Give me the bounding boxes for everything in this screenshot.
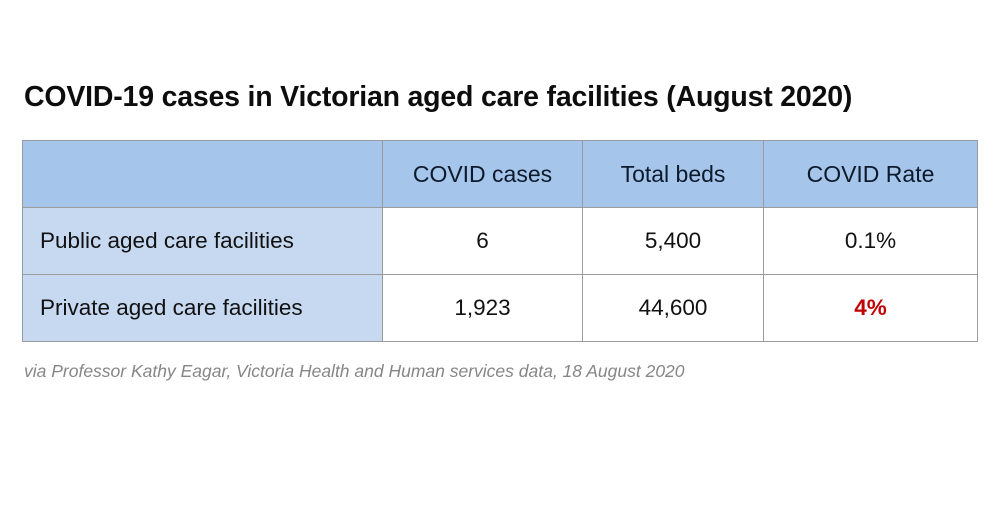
covid-aged-care-table: COVID cases Total beds COVID Rate Public… [22, 140, 978, 342]
column-header-blank [23, 141, 383, 208]
table-header: COVID cases Total beds COVID Rate [23, 141, 978, 208]
cell-private-covid-rate: 4% [764, 275, 978, 342]
page-title: COVID-19 cases in Victorian aged care fa… [24, 81, 852, 114]
column-header-covid-cases: COVID cases [383, 141, 583, 208]
cell-public-total-beds: 5,400 [583, 208, 764, 275]
slide-canvas: COVID-19 cases in Victorian aged care fa… [0, 0, 1000, 505]
cell-public-covid-rate: 0.1% [764, 208, 978, 275]
column-header-covid-rate: COVID Rate [764, 141, 978, 208]
column-header-total-beds: Total beds [583, 141, 764, 208]
table-row: Private aged care facilities 1,923 44,60… [23, 275, 978, 342]
cell-private-total-beds: 44,600 [583, 275, 764, 342]
table-row: Public aged care facilities 6 5,400 0.1% [23, 208, 978, 275]
table-body: Public aged care facilities 6 5,400 0.1%… [23, 208, 978, 342]
row-label-private: Private aged care facilities [23, 275, 383, 342]
cell-private-covid-cases: 1,923 [383, 275, 583, 342]
row-label-public: Public aged care facilities [23, 208, 383, 275]
table-header-row: COVID cases Total beds COVID Rate [23, 141, 978, 208]
source-caption: via Professor Kathy Eagar, Victoria Heal… [24, 361, 685, 382]
cell-public-covid-cases: 6 [383, 208, 583, 275]
